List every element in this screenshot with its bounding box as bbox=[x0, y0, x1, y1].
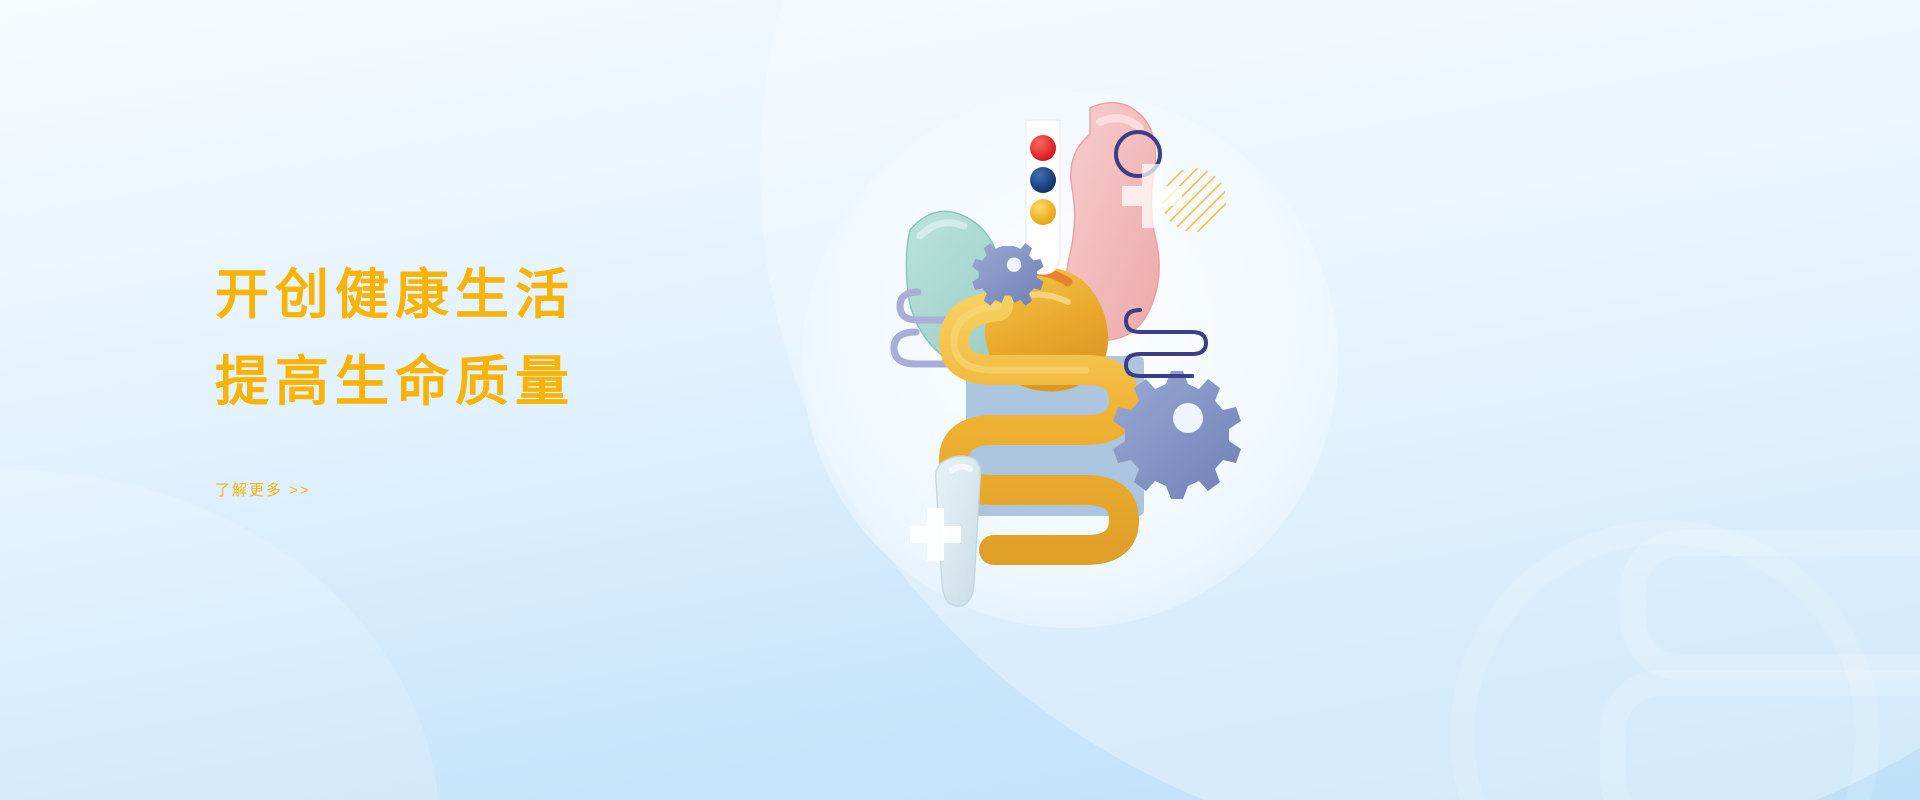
learn-more-link[interactable]: 了解更多 >> bbox=[215, 479, 311, 500]
background-arc-left bbox=[0, 470, 440, 800]
pill-dot-red bbox=[1030, 135, 1056, 161]
headline-line-2: 提高生命质量 bbox=[215, 339, 835, 426]
pill-dot-yellow bbox=[1030, 199, 1056, 225]
banner-copy: 开创健康生活 提高生命质量 了解更多 >> bbox=[215, 252, 835, 500]
pill-dot-navy bbox=[1030, 167, 1056, 193]
headline-line-1: 开创健康生活 bbox=[215, 252, 835, 339]
health-banner: 开创健康生活 提高生命质量 了解更多 >> bbox=[0, 0, 1920, 800]
medical-illustration bbox=[770, 60, 1330, 700]
bottle-highlight bbox=[952, 467, 970, 470]
